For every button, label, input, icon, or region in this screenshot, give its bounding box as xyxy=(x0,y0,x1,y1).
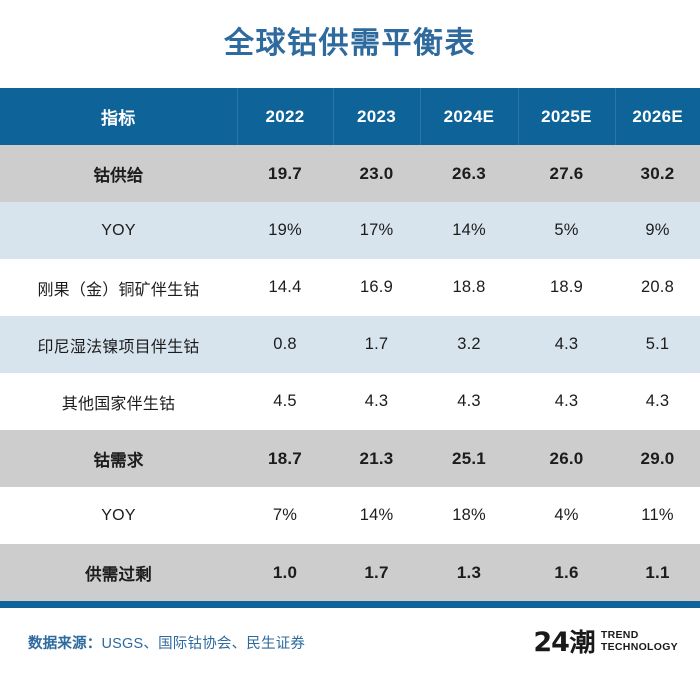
row-value: 1.7 xyxy=(333,544,420,601)
table-bottom-rule xyxy=(0,601,700,608)
row-label: 其他国家伴生钴 xyxy=(0,373,237,430)
row-value: 17% xyxy=(333,202,420,259)
table-header-row: 指标 2022 2023 2024E 2025E 2026E xyxy=(0,88,700,145)
row-value: 1.3 xyxy=(420,544,518,601)
row-value: 20.8 xyxy=(615,259,700,316)
row-value: 4.3 xyxy=(420,373,518,430)
row-value: 3.2 xyxy=(420,316,518,373)
row-value: 14.4 xyxy=(237,259,333,316)
row-label: 钴供给 xyxy=(0,145,237,202)
column-header-indicator: 指标 xyxy=(0,88,237,145)
row-value: 11% xyxy=(615,487,700,544)
row-label: 供需过剩 xyxy=(0,544,237,601)
logo-line-2: TECHNOLOGY xyxy=(601,642,678,654)
table-row: 其他国家伴生钴4.54.34.34.34.3 xyxy=(0,373,700,430)
row-value: 30.2 xyxy=(615,145,700,202)
infographic-page: 全球钴供需平衡表 指标 2022 2023 2024E 2025E 2026E … xyxy=(0,0,700,676)
table-row: 供需过剩1.01.71.31.61.1 xyxy=(0,544,700,601)
row-value: 19.7 xyxy=(237,145,333,202)
row-value: 5.1 xyxy=(615,316,700,373)
row-value: 1.6 xyxy=(518,544,615,601)
row-value: 18.9 xyxy=(518,259,615,316)
row-value: 26.3 xyxy=(420,145,518,202)
footer: 数据来源：USGS、国际钴协会、民生证券 24潮 TREND TECHNOLOG… xyxy=(0,608,700,676)
table-row: 钴需求18.721.325.126.029.0 xyxy=(0,430,700,487)
row-value: 4.3 xyxy=(333,373,420,430)
row-value: 25.1 xyxy=(420,430,518,487)
table-row: YOY19%17%14%5%9% xyxy=(0,202,700,259)
row-value: 18.8 xyxy=(420,259,518,316)
row-value: 5% xyxy=(518,202,615,259)
table-row: 刚果（金）铜矿伴生钴14.416.918.818.920.8 xyxy=(0,259,700,316)
row-value: 23.0 xyxy=(333,145,420,202)
row-label: YOY xyxy=(0,202,237,259)
row-value: 0.8 xyxy=(237,316,333,373)
row-value: 1.1 xyxy=(615,544,700,601)
row-label: YOY xyxy=(0,487,237,544)
data-source-value: USGS、国际钴协会、民生证券 xyxy=(102,636,306,652)
data-source-label: 数据来源： xyxy=(28,636,102,652)
table-row: 钴供给19.723.026.327.630.2 xyxy=(0,145,700,202)
logo-mark-number: 24 xyxy=(533,629,569,656)
table-header: 指标 2022 2023 2024E 2025E 2026E xyxy=(0,88,700,145)
column-header-2026e: 2026E xyxy=(615,88,700,145)
row-value: 4.3 xyxy=(518,373,615,430)
logo-mark-icon: 24潮 xyxy=(533,629,594,656)
row-value: 14% xyxy=(420,202,518,259)
row-value: 19% xyxy=(237,202,333,259)
row-label: 钴需求 xyxy=(0,430,237,487)
table-row: 印尼湿法镍项目伴生钴0.81.73.24.35.1 xyxy=(0,316,700,373)
row-value: 1.0 xyxy=(237,544,333,601)
row-value: 29.0 xyxy=(615,430,700,487)
column-header-2025e: 2025E xyxy=(518,88,615,145)
row-value: 27.6 xyxy=(518,145,615,202)
data-source: 数据来源：USGS、国际钴协会、民生证券 xyxy=(28,632,305,653)
row-value: 9% xyxy=(615,202,700,259)
brand-logo: 24潮 TREND TECHNOLOGY xyxy=(533,629,678,656)
row-value: 4.3 xyxy=(518,316,615,373)
row-value: 26.0 xyxy=(518,430,615,487)
row-value: 18.7 xyxy=(237,430,333,487)
logo-mark-cjk: 潮 xyxy=(569,630,594,655)
column-header-2023: 2023 xyxy=(333,88,420,145)
column-header-2024e: 2024E xyxy=(420,88,518,145)
row-value: 1.7 xyxy=(333,316,420,373)
row-value: 4.3 xyxy=(615,373,700,430)
row-label: 印尼湿法镍项目伴生钴 xyxy=(0,316,237,373)
row-label: 刚果（金）铜矿伴生钴 xyxy=(0,259,237,316)
title-area: 全球钴供需平衡表 xyxy=(0,0,700,88)
row-value: 21.3 xyxy=(333,430,420,487)
row-value: 4% xyxy=(518,487,615,544)
table-body: 钴供给19.723.026.327.630.2YOY19%17%14%5%9%刚… xyxy=(0,145,700,601)
row-value: 18% xyxy=(420,487,518,544)
row-value: 16.9 xyxy=(333,259,420,316)
row-value: 14% xyxy=(333,487,420,544)
table-row: YOY7%14%18%4%11% xyxy=(0,487,700,544)
column-header-2022: 2022 xyxy=(237,88,333,145)
logo-wordmark: TREND TECHNOLOGY xyxy=(601,630,678,654)
row-value: 7% xyxy=(237,487,333,544)
cobalt-balance-table: 指标 2022 2023 2024E 2025E 2026E 钴供给19.723… xyxy=(0,88,700,601)
page-title: 全球钴供需平衡表 xyxy=(224,29,476,59)
row-value: 4.5 xyxy=(237,373,333,430)
